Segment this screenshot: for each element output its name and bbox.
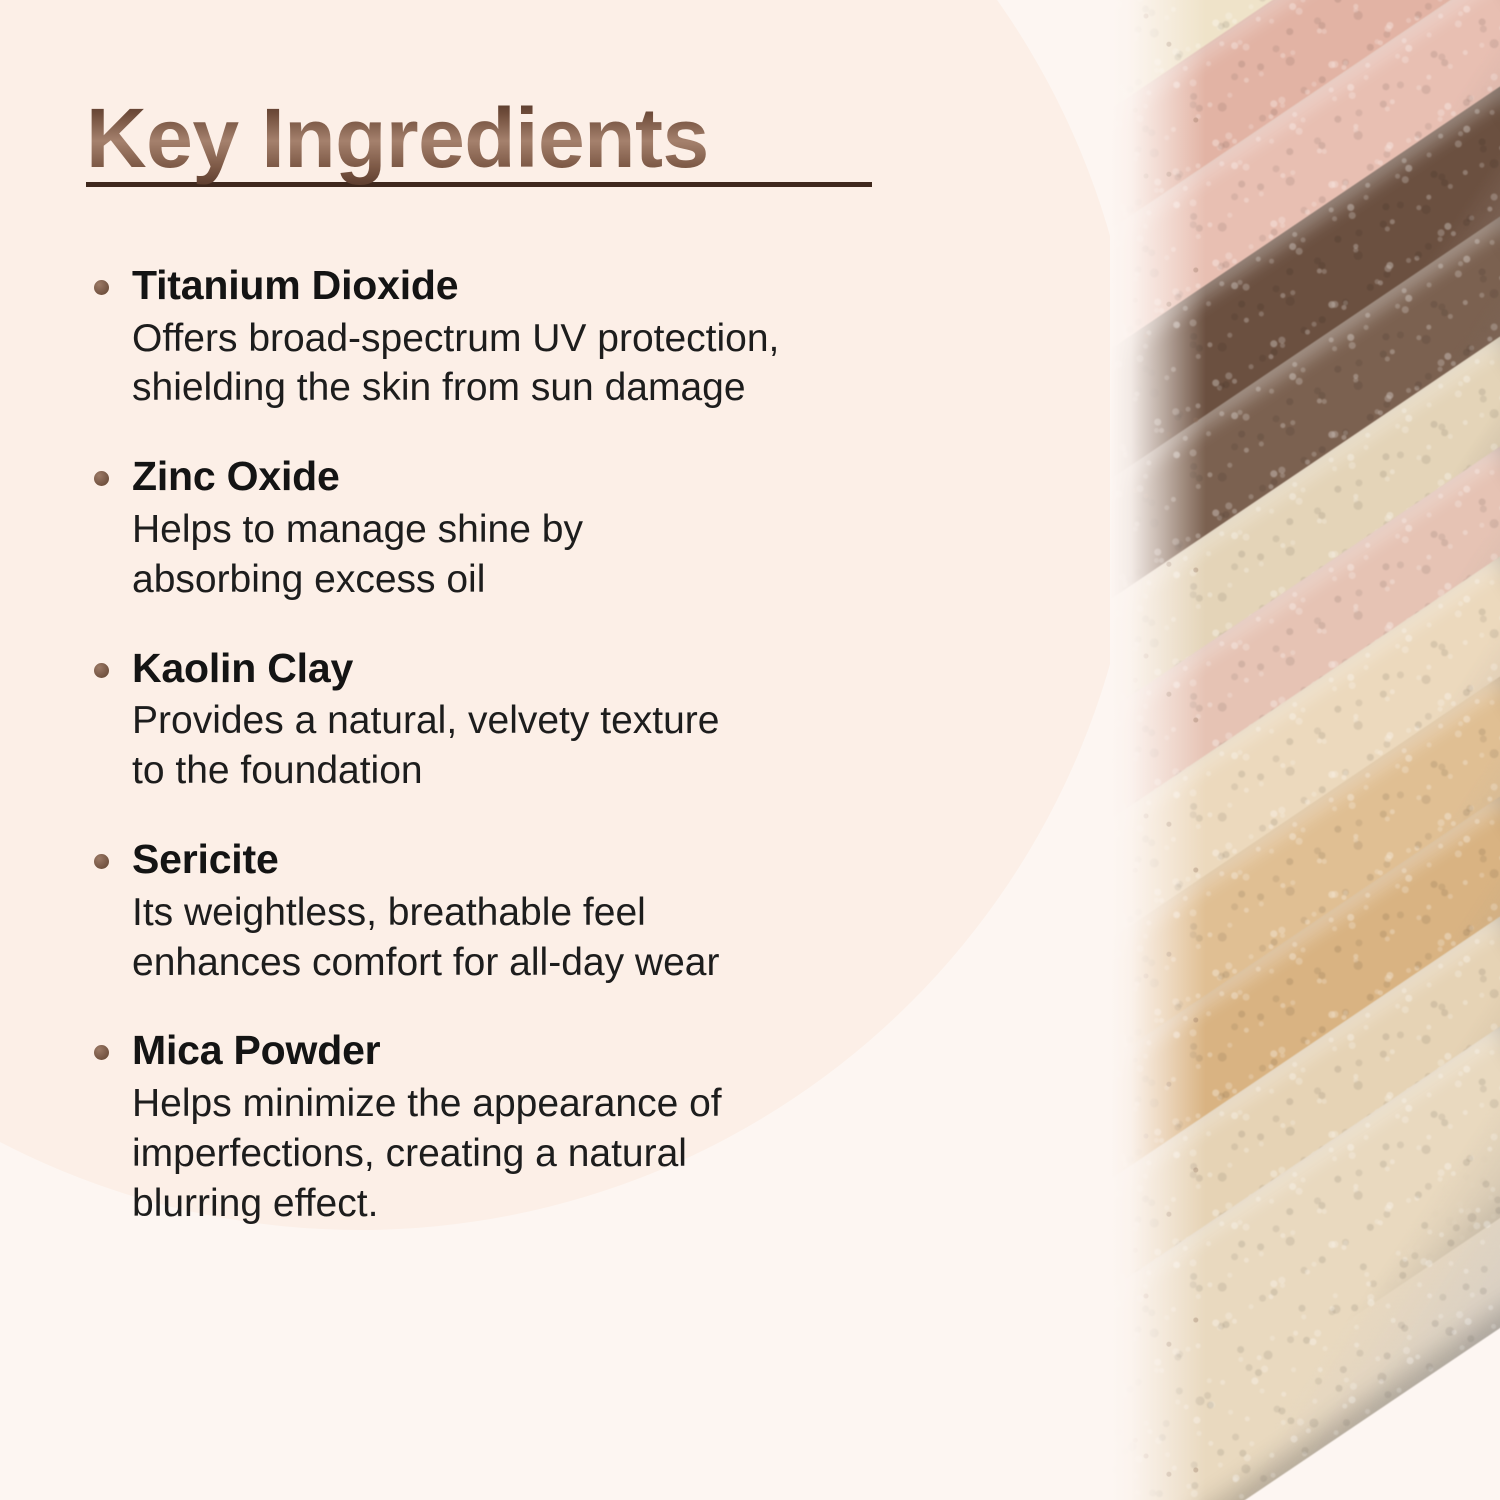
bullet-dot-icon [94,663,109,678]
ingredient-name: Titanium Dioxide [132,262,966,310]
bullet-dot-icon [94,1045,109,1060]
content-column: Key Ingredients Titanium Dioxide Offers … [0,0,1010,1500]
bullet-dot-icon [94,854,109,869]
list-item: Sericite Its weightless, breathable feel… [86,836,966,987]
ingredient-name: Mica Powder [132,1027,966,1075]
ingredients-list: Titanium Dioxide Offers broad-spectrum U… [86,262,966,1229]
ingredient-description: Provides a natural, velvety texture to t… [132,696,966,796]
ingredient-name: Sericite [132,836,966,884]
ingredient-description: Helps minimize the appearance of imperfe… [132,1079,966,1229]
ingredient-name: Zinc Oxide [132,453,966,501]
bullet-dot-icon [94,471,109,486]
page-title: Key Ingredients [86,96,709,186]
powder-swatch-photo [1110,0,1500,1500]
key-ingredients-poster: Key Ingredients Titanium Dioxide Offers … [0,0,1500,1500]
ingredient-name: Kaolin Clay [132,645,966,693]
title-block: Key Ingredients [86,96,886,187]
powder-left-fade [1110,0,1206,1500]
bullet-dot-icon [94,280,109,295]
ingredient-description: Offers broad-spectrum UV protection, shi… [132,314,966,414]
list-item: Kaolin Clay Provides a natural, velvety … [86,645,966,796]
ingredient-description: Helps to manage shine by absorbing exces… [132,505,966,605]
list-item: Mica Powder Helps minimize the appearanc… [86,1027,966,1228]
ingredient-description: Its weightless, breathable feel enhances… [132,888,966,988]
list-item: Titanium Dioxide Offers broad-spectrum U… [86,262,966,413]
list-item: Zinc Oxide Helps to manage shine by abso… [86,453,966,604]
